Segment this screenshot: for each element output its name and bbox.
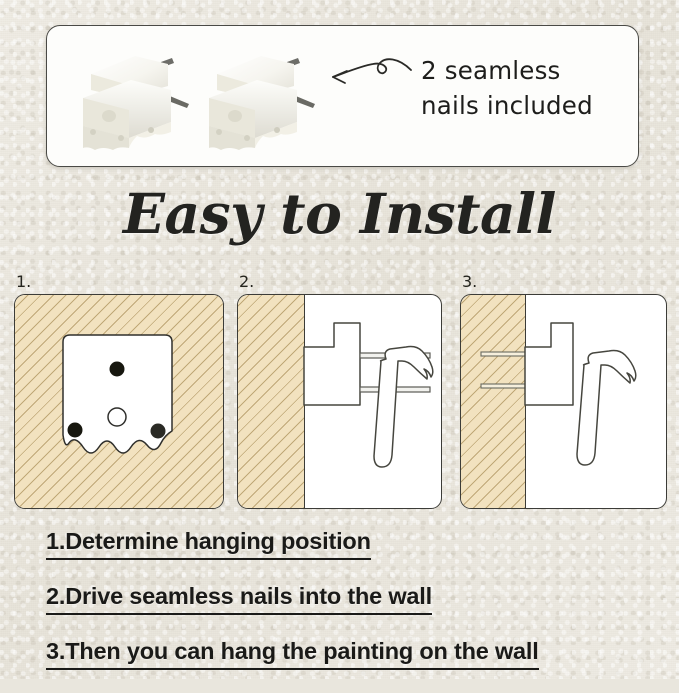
marker-dot-right bbox=[151, 424, 166, 439]
step-illustration-1 bbox=[14, 294, 224, 509]
card-caption-line-1: 2 seamless bbox=[421, 54, 636, 89]
marker-dot-left bbox=[68, 423, 83, 438]
curved-arrow-icon bbox=[319, 52, 415, 103]
instruction-list: 1.Determine hanging position 2.Drive sea… bbox=[46, 528, 646, 693]
hammer-icon bbox=[577, 351, 636, 466]
product-photo-right bbox=[199, 46, 319, 156]
card-caption: 2 seamless nails included bbox=[421, 54, 636, 124]
instruction-row-3: 3.Then you can hang the painting on the … bbox=[46, 638, 646, 693]
step-panels: 1. 2. bbox=[0, 272, 679, 512]
instruction-row-2: 2.Drive seamless nails into the wall bbox=[46, 583, 646, 638]
page-background: 2 seamless nails included Easy to Instal… bbox=[0, 0, 679, 679]
step-number-2: 2. bbox=[239, 272, 254, 291]
step-illustration-3 bbox=[460, 294, 667, 509]
seamless-nails-card: 2 seamless nails included bbox=[46, 25, 639, 167]
instruction-text-2: 2.Drive seamless nails into the wall bbox=[46, 583, 432, 615]
step-number-1: 1. bbox=[16, 272, 31, 291]
driven-nail-upper bbox=[481, 352, 531, 356]
page-title: Easy to Install bbox=[0, 186, 679, 241]
card-caption-line-2: nails included bbox=[421, 89, 636, 124]
marker-dot-top bbox=[110, 362, 125, 377]
hanger-profile bbox=[304, 323, 360, 405]
product-photo-left bbox=[73, 46, 193, 156]
hammer-icon bbox=[374, 347, 433, 468]
driven-nail-lower bbox=[481, 384, 531, 388]
step-number-3: 3. bbox=[462, 272, 477, 291]
instruction-row-1: 1.Determine hanging position bbox=[46, 528, 646, 583]
step-illustration-2 bbox=[237, 294, 442, 509]
instruction-text-3: 3.Then you can hang the painting on the … bbox=[46, 638, 539, 670]
instruction-text-1: 1.Determine hanging position bbox=[46, 528, 371, 560]
hanger-profile-mounted bbox=[525, 323, 573, 405]
